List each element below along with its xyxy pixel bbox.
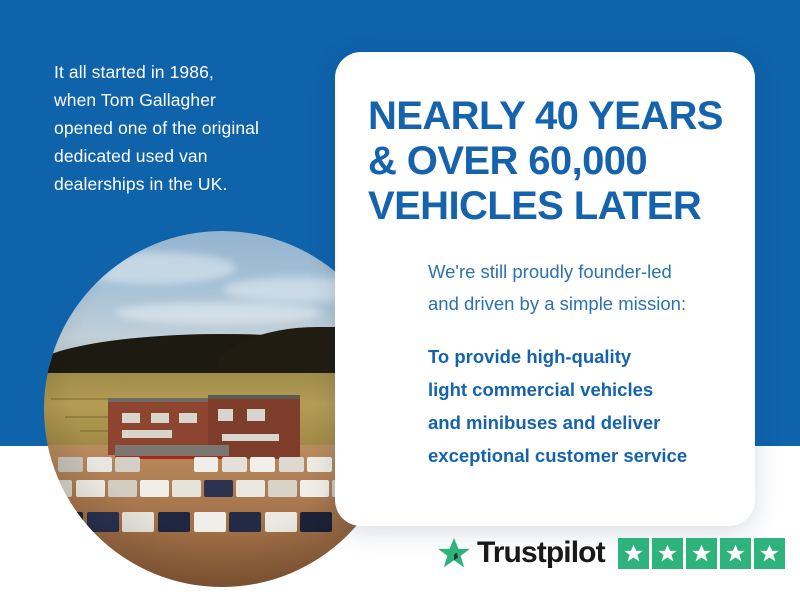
star-rating [618,538,785,569]
intro-line: when Tom Gallagher [54,86,319,114]
intro-line: dealerships in the UK. [54,170,319,198]
promo-banner: It all started in 1986, when Tom Gallagh… [0,0,800,600]
mission-line: exceptional customer service [428,440,725,473]
intro-line: dedicated used van [54,142,319,170]
subtitle-text: We're still proudly founder-led and driv… [368,256,725,319]
subtitle-line: We're still proudly founder-led [428,256,725,287]
headline-line: NEARLY 40 YEARS [368,94,725,139]
mission-statement: To provide high-quality light commercial… [368,341,725,473]
intro-paragraph: It all started in 1986, when Tom Gallagh… [54,58,319,198]
page-title: NEARLY 40 YEARS & OVER 60,000 VEHICLES L… [368,94,725,228]
rating-star-icon [720,538,751,569]
mission-line: To provide high-quality [428,341,725,374]
rating-star-icon [618,538,649,569]
intro-line: It all started in 1986, [54,58,319,86]
intro-line: opened one of the original [54,114,319,142]
rating-star-icon [652,538,683,569]
headline-line: & OVER 60,000 [368,139,725,184]
headline-line: VEHICLES LATER [368,184,725,229]
subtitle-line: and driven by a simple mission: [428,288,725,319]
rating-star-icon [754,538,785,569]
rating-star-icon [686,538,717,569]
trustpilot-logo[interactable]: Trustpilot [437,536,605,570]
trustpilot-rating[interactable]: Trustpilot [437,536,785,570]
trustpilot-wordmark: Trustpilot [477,536,605,570]
mission-line: and minibuses and deliver [428,407,725,440]
content-card: NEARLY 40 YEARS & OVER 60,000 VEHICLES L… [335,52,755,526]
mission-line: light commercial vehicles [428,374,725,407]
trustpilot-star-icon [437,537,471,570]
